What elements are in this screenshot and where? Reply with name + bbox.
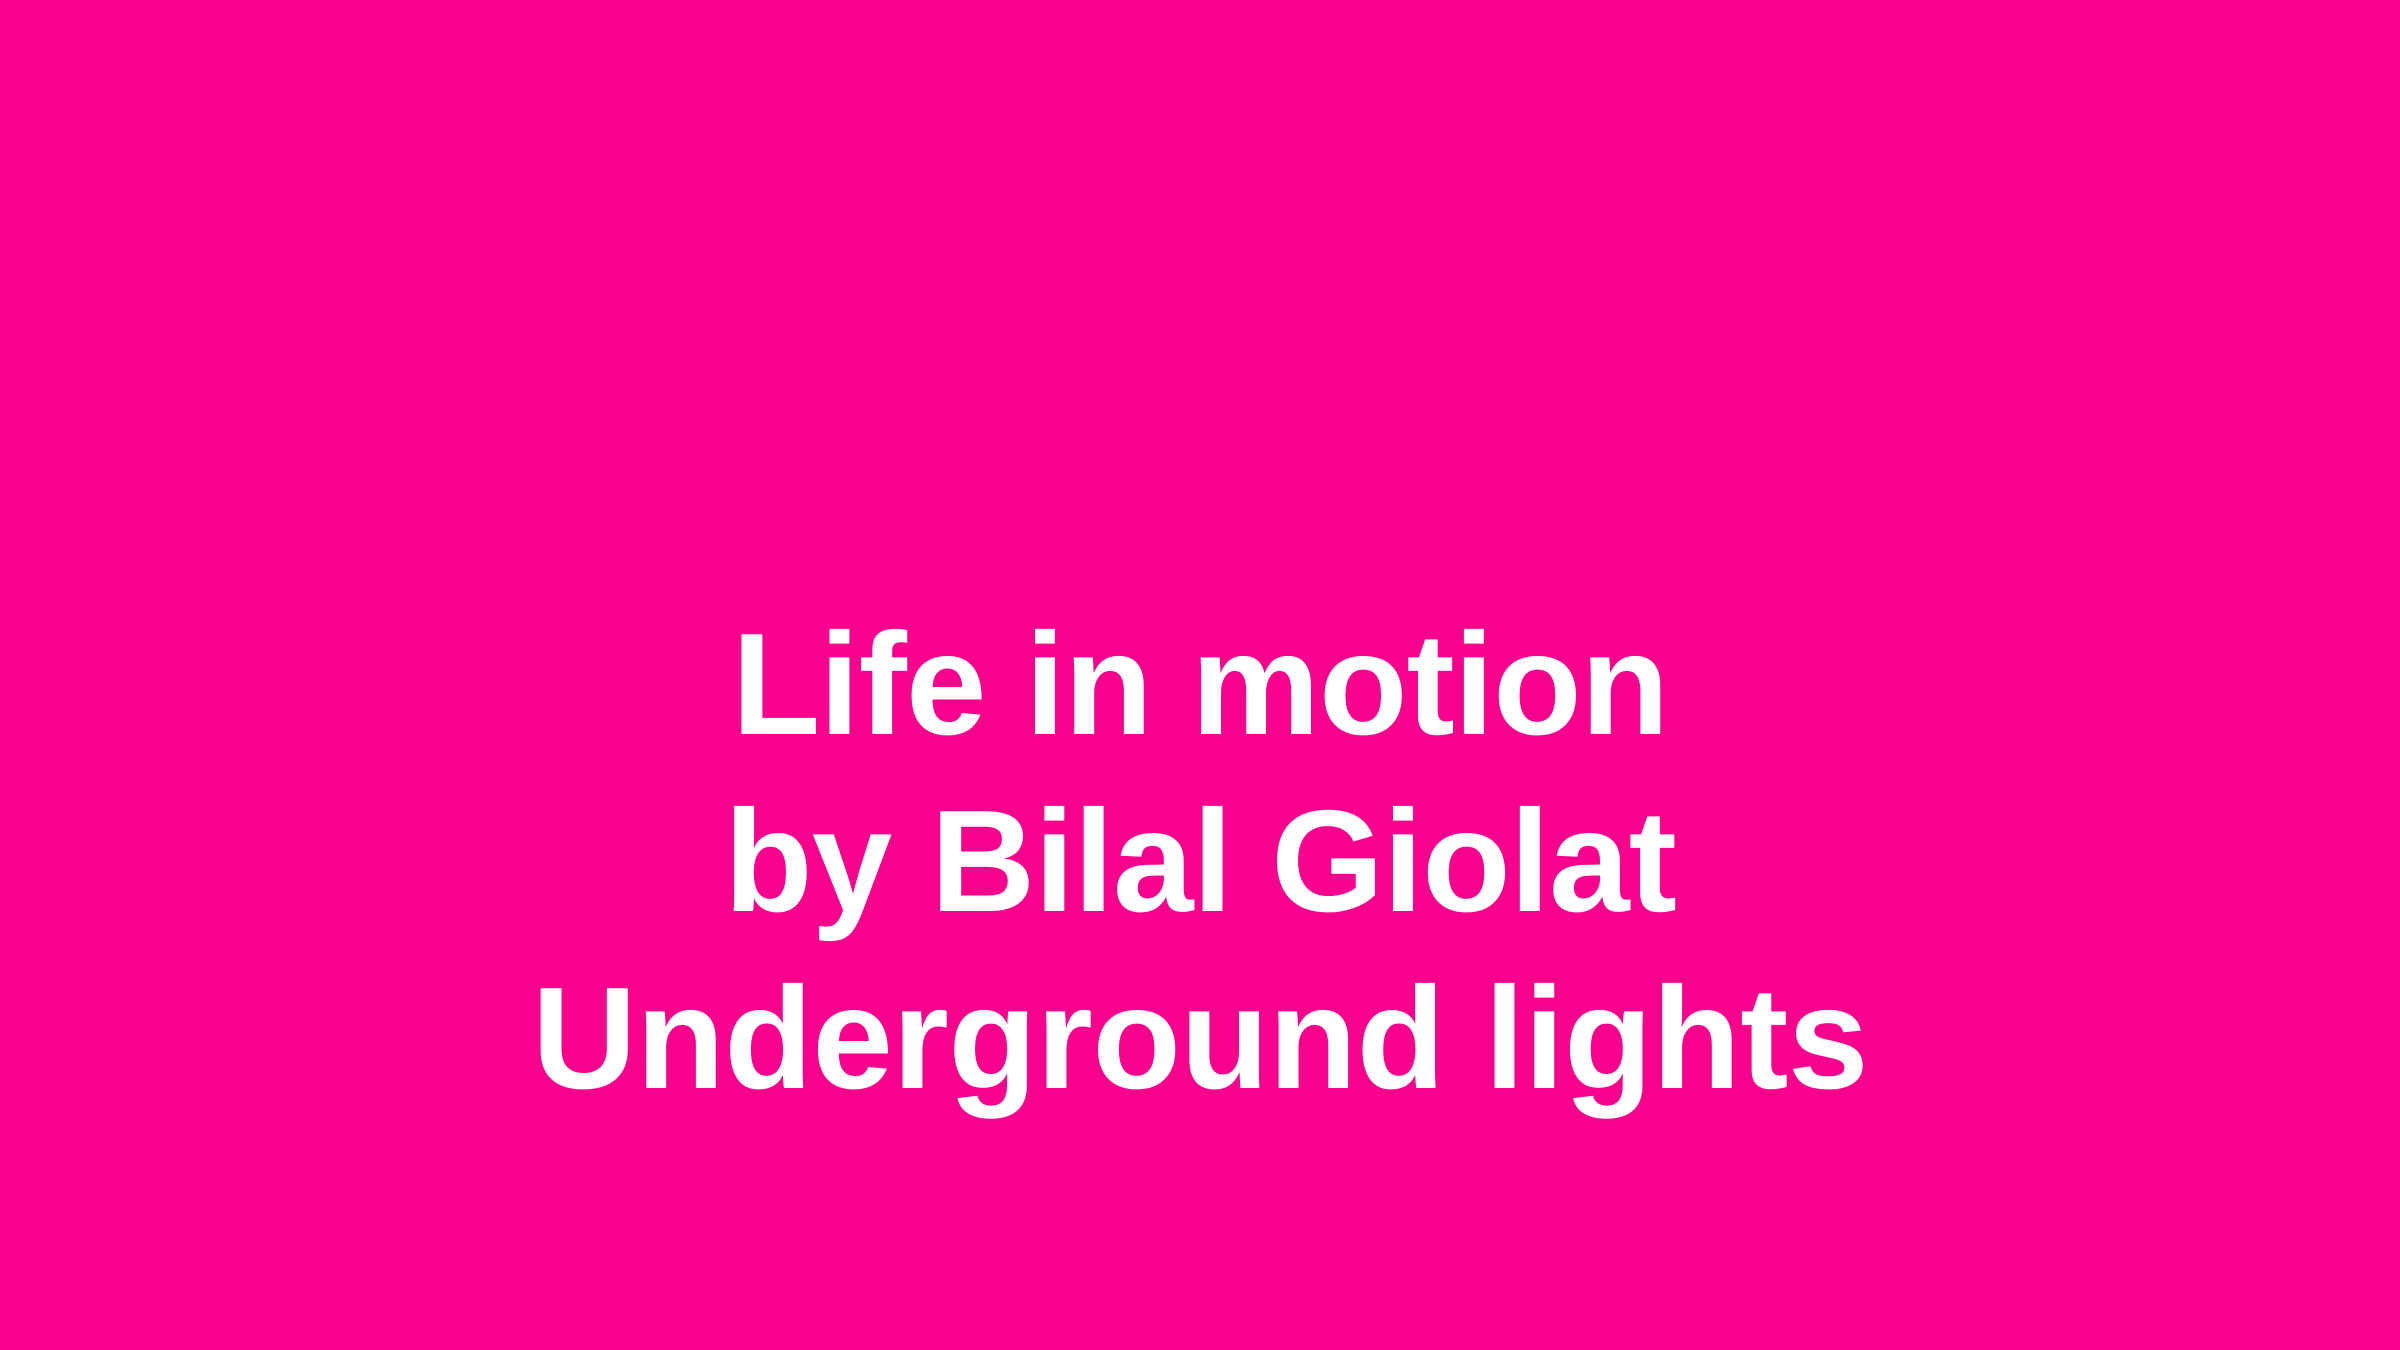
title-line-work-title: Life in motion bbox=[0, 596, 2400, 773]
title-card: Life in motion by Bilal Giolat Undergrou… bbox=[0, 0, 2400, 1350]
title-text-block: Life in motion by Bilal Giolat Undergrou… bbox=[0, 596, 2400, 1127]
title-line-byline: by Bilal Giolat bbox=[0, 773, 2400, 950]
title-line-subtitle: Underground lights bbox=[0, 950, 2400, 1127]
